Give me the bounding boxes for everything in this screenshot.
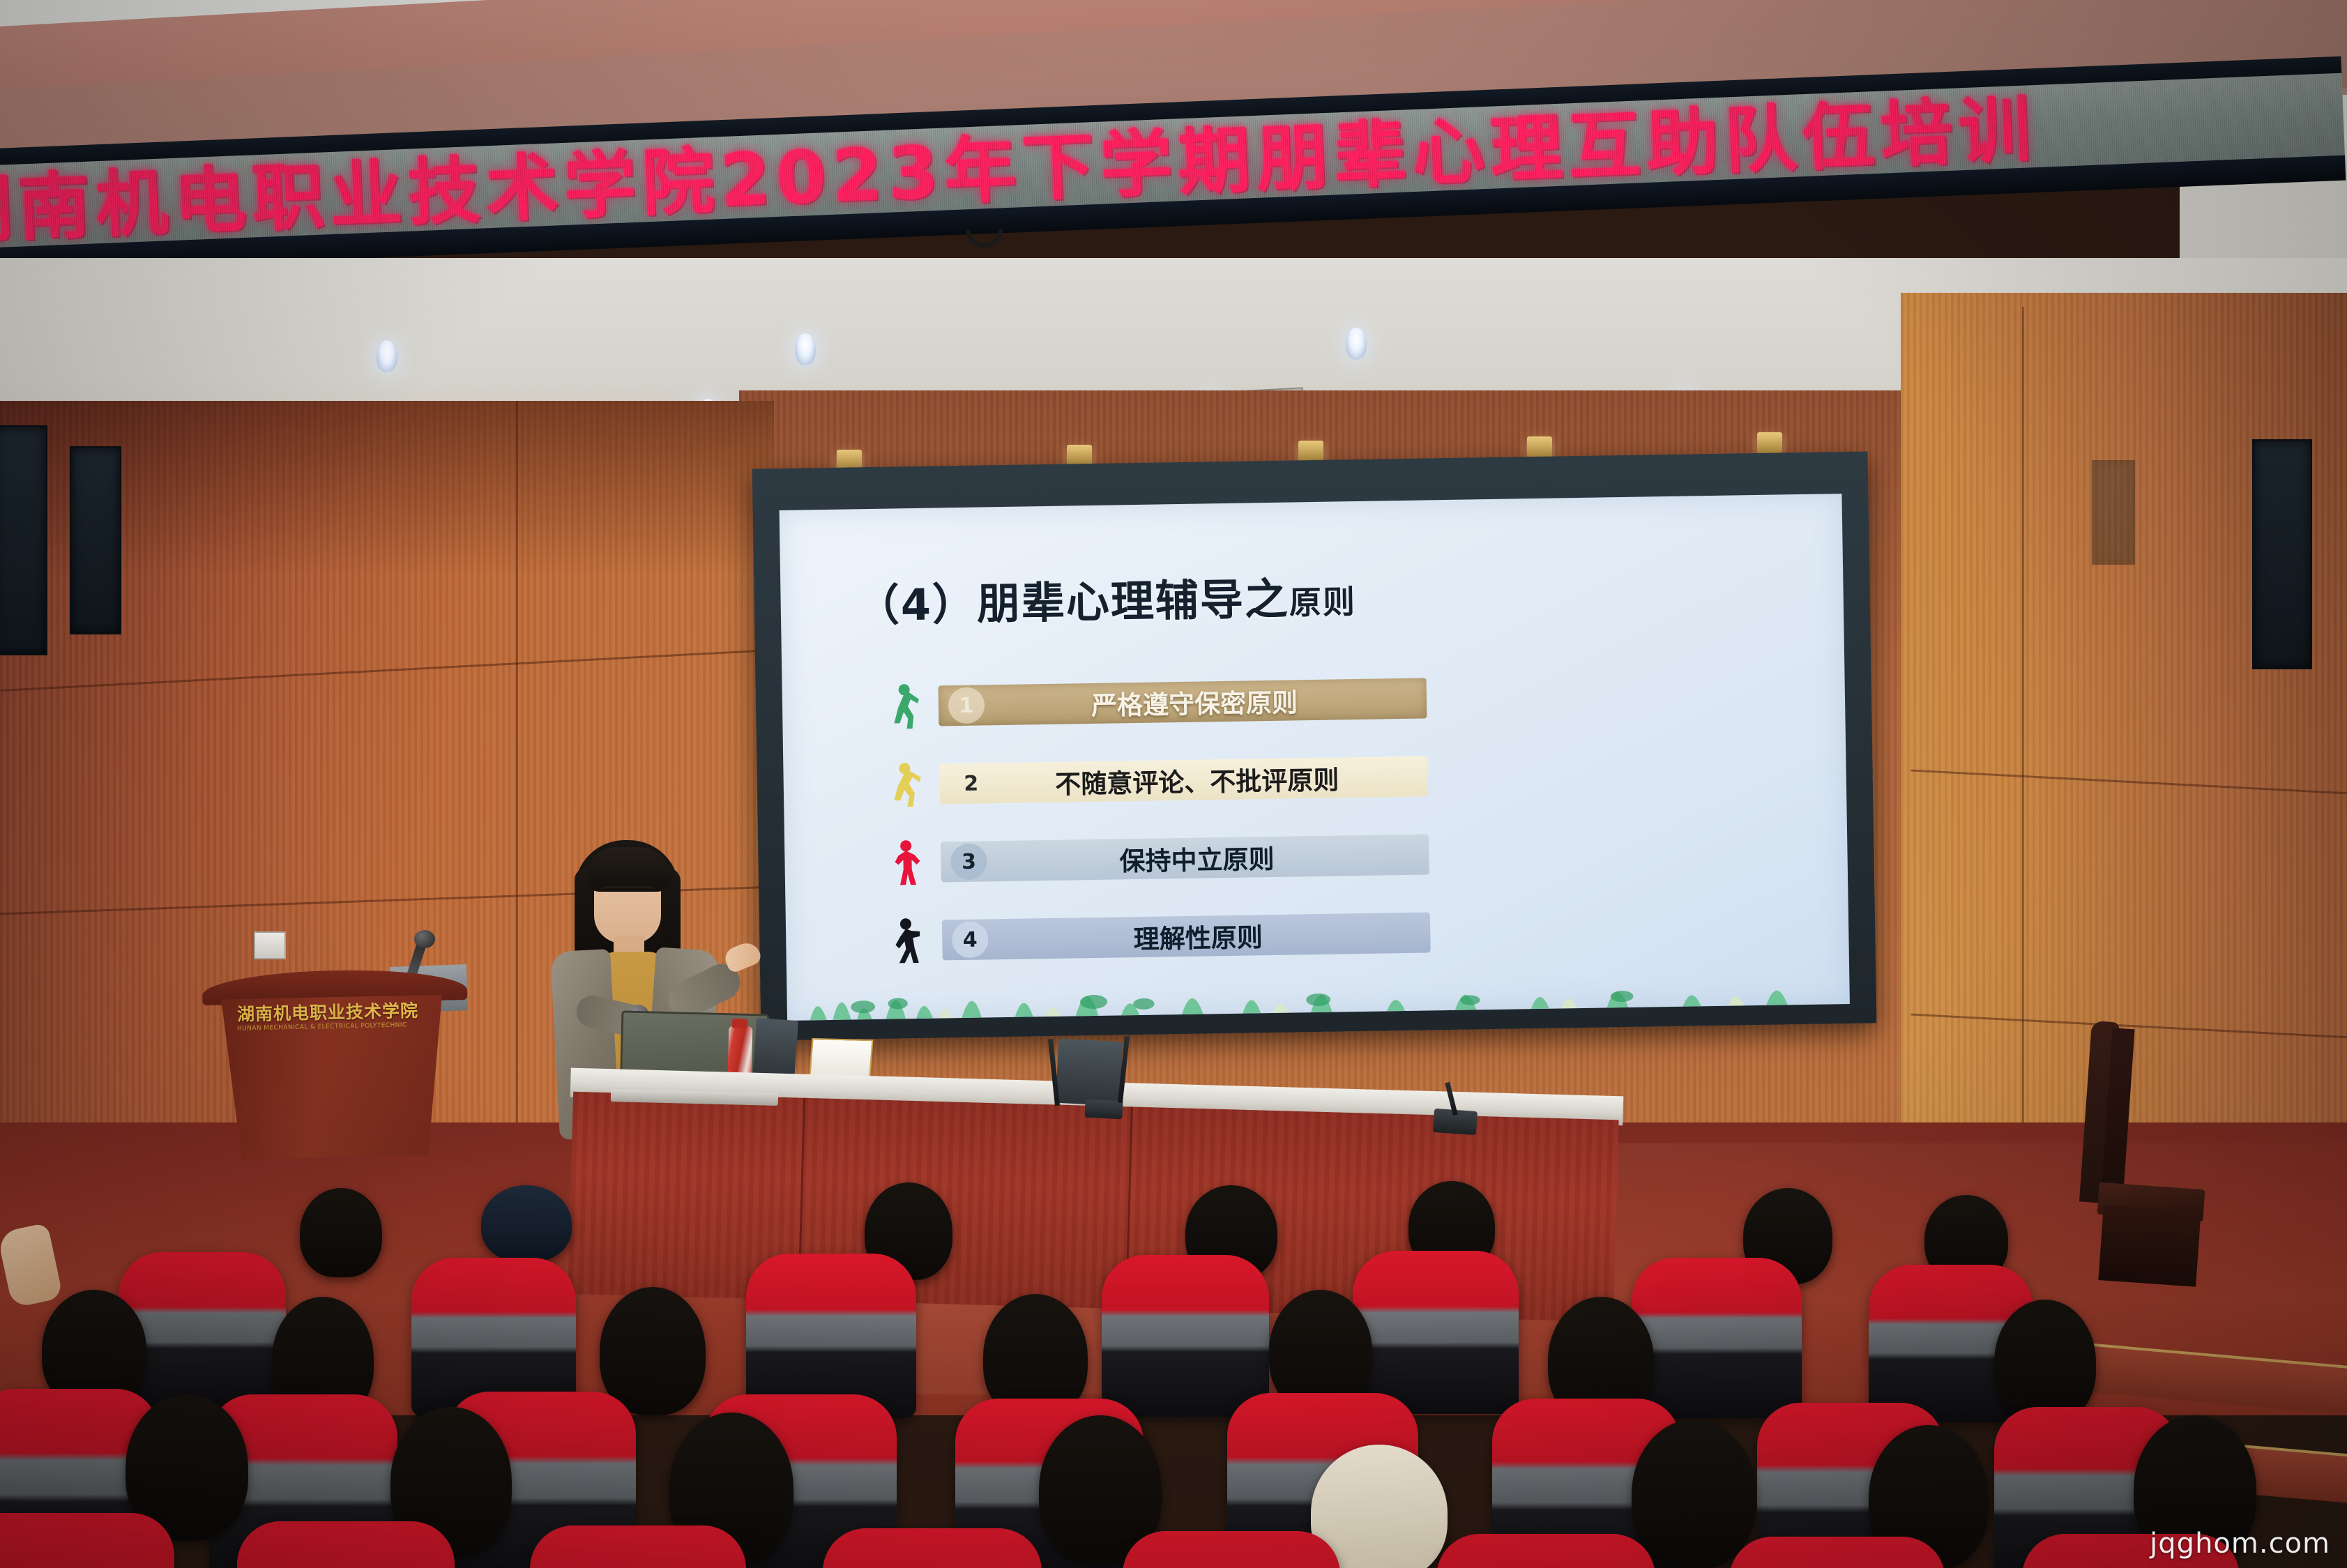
auditorium-seat	[823, 1528, 1042, 1568]
ceiling-downlight	[795, 333, 816, 365]
wall-speaker	[0, 425, 47, 655]
podium-microphone-head	[414, 930, 435, 948]
screen-spotlight	[1527, 436, 1552, 457]
auditorium-seat	[746, 1254, 916, 1418]
auditorium-seat	[1632, 1258, 1802, 1418]
slide-bullet-row: 3 保持中立原则	[889, 830, 1429, 886]
slide-bullet-bar: 3 保持中立原则	[941, 834, 1429, 882]
auditorium-seat	[1353, 1251, 1519, 1414]
audience-head	[1994, 1300, 2096, 1424]
audience-head	[300, 1188, 382, 1277]
bullet-text: 严格遵守保密原则	[939, 679, 1427, 724]
bullet-number: 2	[960, 766, 982, 802]
slide-bullet-row: 2 不随意评论、不批评原则	[888, 752, 1428, 808]
screen-spotlight	[1067, 445, 1092, 466]
slide-bullet-bar: 1 严格遵守保密原则	[939, 678, 1427, 726]
bullet-text: 不随意评论、不批评原则	[939, 757, 1428, 802]
auditorium-seat	[237, 1521, 455, 1568]
watermark-text: jqghom.com	[2150, 1528, 2330, 1560]
audience-head	[600, 1287, 706, 1415]
screen-spotlight	[1757, 432, 1782, 453]
slide-bullet-bar: 2 不随意评论、不批评原则	[939, 756, 1428, 804]
wall-seam-vertical	[2022, 307, 2024, 1206]
ceiling-downlight	[1346, 328, 1367, 360]
auditorium-seat	[0, 1513, 174, 1568]
auditorium-seat	[1102, 1255, 1269, 1417]
slide-bullet-row: 1 严格遵守保密原则	[887, 674, 1427, 730]
auditorium-photo: 湖南机电职业技术学院2023年下学期朋辈心理互助队伍培训 （4）朋辈心理辅导之原…	[0, 0, 2347, 1568]
slide-bullet-bar: 4 理解性原则	[942, 912, 1431, 960]
wall-speaker	[70, 446, 121, 634]
projected-slide: （4）朋辈心理辅导之原则 1 严格遵守保密原则	[780, 494, 1850, 1021]
standing-figure-red-icon	[889, 839, 923, 887]
screen-spotlight	[1298, 441, 1323, 462]
bottle-cap	[732, 1019, 747, 1029]
led-hanging-hook	[966, 229, 1003, 248]
wall-light-switch[interactable]	[254, 931, 286, 959]
presenter-fringe	[586, 847, 671, 892]
audience-head-with-cap	[481, 1185, 572, 1262]
auditorium-seat	[530, 1525, 746, 1568]
auditorium-seat	[1729, 1537, 1945, 1568]
walking-figure-navy-icon	[890, 917, 925, 965]
wall-speaker	[2092, 460, 2135, 565]
slide-title-main: （4）朋辈心理辅导之	[856, 574, 1289, 632]
desk-microphone-shield	[1056, 1039, 1123, 1106]
bullet-text: 理解性原则	[942, 913, 1431, 959]
auditorium-seat	[1436, 1534, 1655, 1568]
auditorium-seat	[1123, 1531, 1340, 1568]
ceiling-downlight	[377, 340, 397, 372]
wall-speaker	[2252, 439, 2312, 669]
slide-title-sub: 原则	[1289, 583, 1356, 622]
running-figure-yellow-icon	[888, 761, 922, 809]
audience-head	[1632, 1419, 1756, 1568]
projection-screen-frame: （4）朋辈心理辅导之原则 1 严格遵守保密原则	[752, 451, 1877, 1040]
audience-seating	[0, 1185, 2347, 1568]
running-figure-green-icon	[887, 683, 921, 731]
bullet-text: 保持中立原则	[941, 835, 1429, 881]
presenter-glasses	[600, 886, 655, 899]
slide-title: （4）朋辈心理辅导之原则	[856, 563, 1356, 633]
